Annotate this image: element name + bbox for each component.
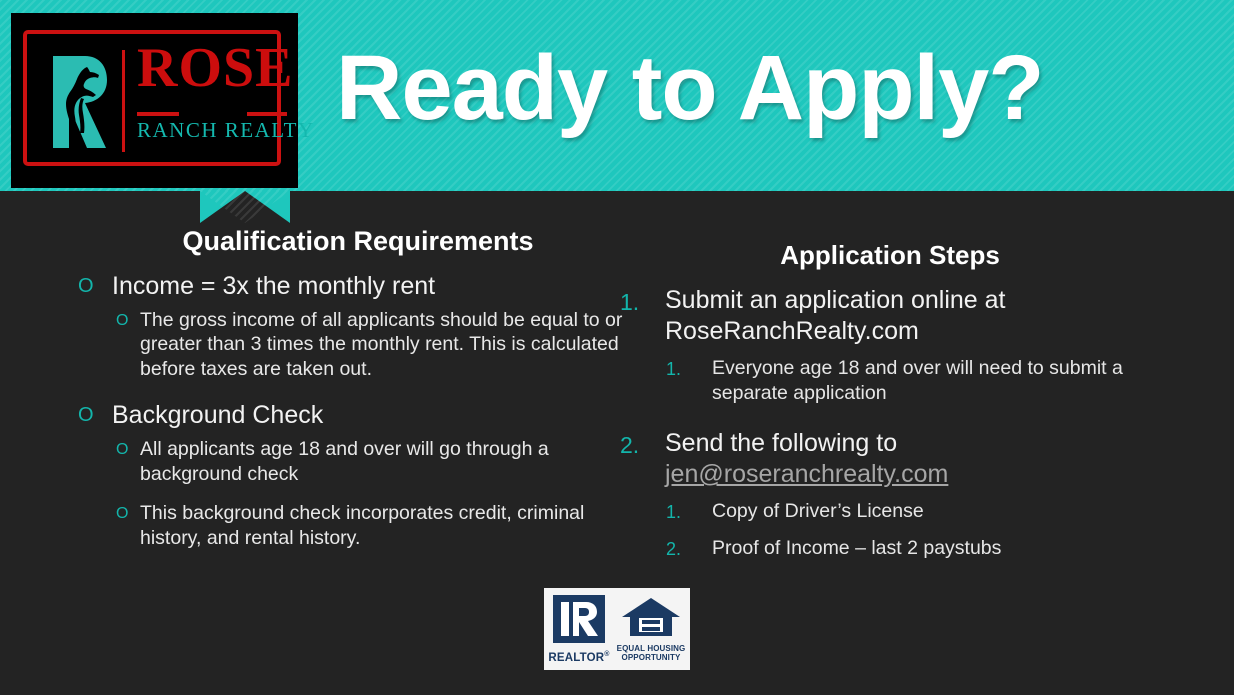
page-title: Ready to Apply? <box>336 36 1043 141</box>
list-item-label: This background check incorporates credi… <box>140 501 638 551</box>
list-number: 2. <box>620 428 665 459</box>
list-number: 1. <box>666 356 712 380</box>
bullet-icon: O <box>116 308 140 330</box>
list-item: O Background Check <box>78 400 638 431</box>
send-to-text: Send the following to <box>665 429 897 457</box>
list-number: 2. <box>666 536 712 560</box>
list-item: 1. Everyone age 18 and over will need to… <box>666 356 1160 407</box>
realtor-label: REALTOR® <box>548 651 610 664</box>
logo-rule-right <box>247 112 287 116</box>
list-item-label: Proof of Income – last 2 paystubs <box>712 536 1160 561</box>
slide-canvas: Ready to Apply? ROSE RANCH REALTY Qualif… <box>0 0 1234 695</box>
list-item-label: All applicants age 18 and over will go t… <box>140 437 638 487</box>
bullet-icon: O <box>116 501 140 523</box>
equal-housing-label: EQUAL HOUSING OPPORTUNITY <box>616 644 686 662</box>
list-item-label: Submit an application online at RoseRanc… <box>665 285 1160 348</box>
right-column-heading: Application Steps <box>620 240 1160 271</box>
list-item-label: Send the following to jen@roseranchrealt… <box>665 428 1160 491</box>
left-column-heading: Qualification Requirements <box>78 226 638 257</box>
realtor-r-icon <box>552 594 606 644</box>
application-steps-column: Application Steps 1. Submit an applicati… <box>620 226 1160 567</box>
company-logo: ROSE RANCH REALTY <box>11 13 298 188</box>
email-link[interactable]: jen@roseranchrealty.com <box>665 460 948 488</box>
eho-line-2: OPPORTUNITY <box>616 653 686 662</box>
bullet-icon: O <box>78 271 112 299</box>
list-number: 1. <box>666 499 712 523</box>
list-item: O Income = 3x the monthly rent <box>78 271 638 302</box>
logo-rule-left <box>137 112 179 116</box>
list-number: 1. <box>620 285 665 316</box>
qualification-requirements-column: Qualification Requirements O Income = 3x… <box>78 226 638 557</box>
list-item: 2. Proof of Income – last 2 paystubs <box>666 536 1160 561</box>
banner-chevron-tab <box>200 191 290 223</box>
list-item: 1. Copy of Driver’s License <box>666 499 1160 524</box>
list-item-label: Background Check <box>112 400 638 431</box>
list-item: O This background check incorporates cre… <box>116 501 638 551</box>
eho-line-1: EQUAL HOUSING <box>616 644 686 653</box>
list-item-label: Income = 3x the monthly rent <box>112 271 638 302</box>
equal-housing-logo: EQUAL HOUSING OPPORTUNITY <box>616 596 686 662</box>
logo-red-frame: ROSE RANCH REALTY <box>23 30 281 166</box>
list-item-label: Copy of Driver’s License <box>712 499 1160 524</box>
bullet-icon: O <box>116 437 140 459</box>
equal-housing-house-icon <box>620 596 682 638</box>
list-item-label: The gross income of all applicants shoul… <box>140 308 638 383</box>
list-item: O All applicants age 18 and over will go… <box>116 437 638 487</box>
logo-brand-text: ROSE <box>137 40 294 96</box>
bullet-icon: O <box>78 400 112 428</box>
list-item: 2. Send the following to jen@roseranchre… <box>620 428 1160 491</box>
realtor-logo: REALTOR® <box>548 594 610 664</box>
list-item: 1. Submit an application online at RoseR… <box>620 285 1160 348</box>
logo-divider <box>122 50 125 152</box>
certification-logos: REALTOR® EQUAL HOUSING OPPORTUNITY <box>544 588 690 670</box>
list-item-label: Everyone age 18 and over will need to su… <box>712 356 1160 407</box>
rearing-horse-in-r-icon <box>51 54 107 150</box>
list-item: O The gross income of all applicants sho… <box>116 308 638 383</box>
logo-tagline: RANCH REALTY <box>137 118 315 143</box>
